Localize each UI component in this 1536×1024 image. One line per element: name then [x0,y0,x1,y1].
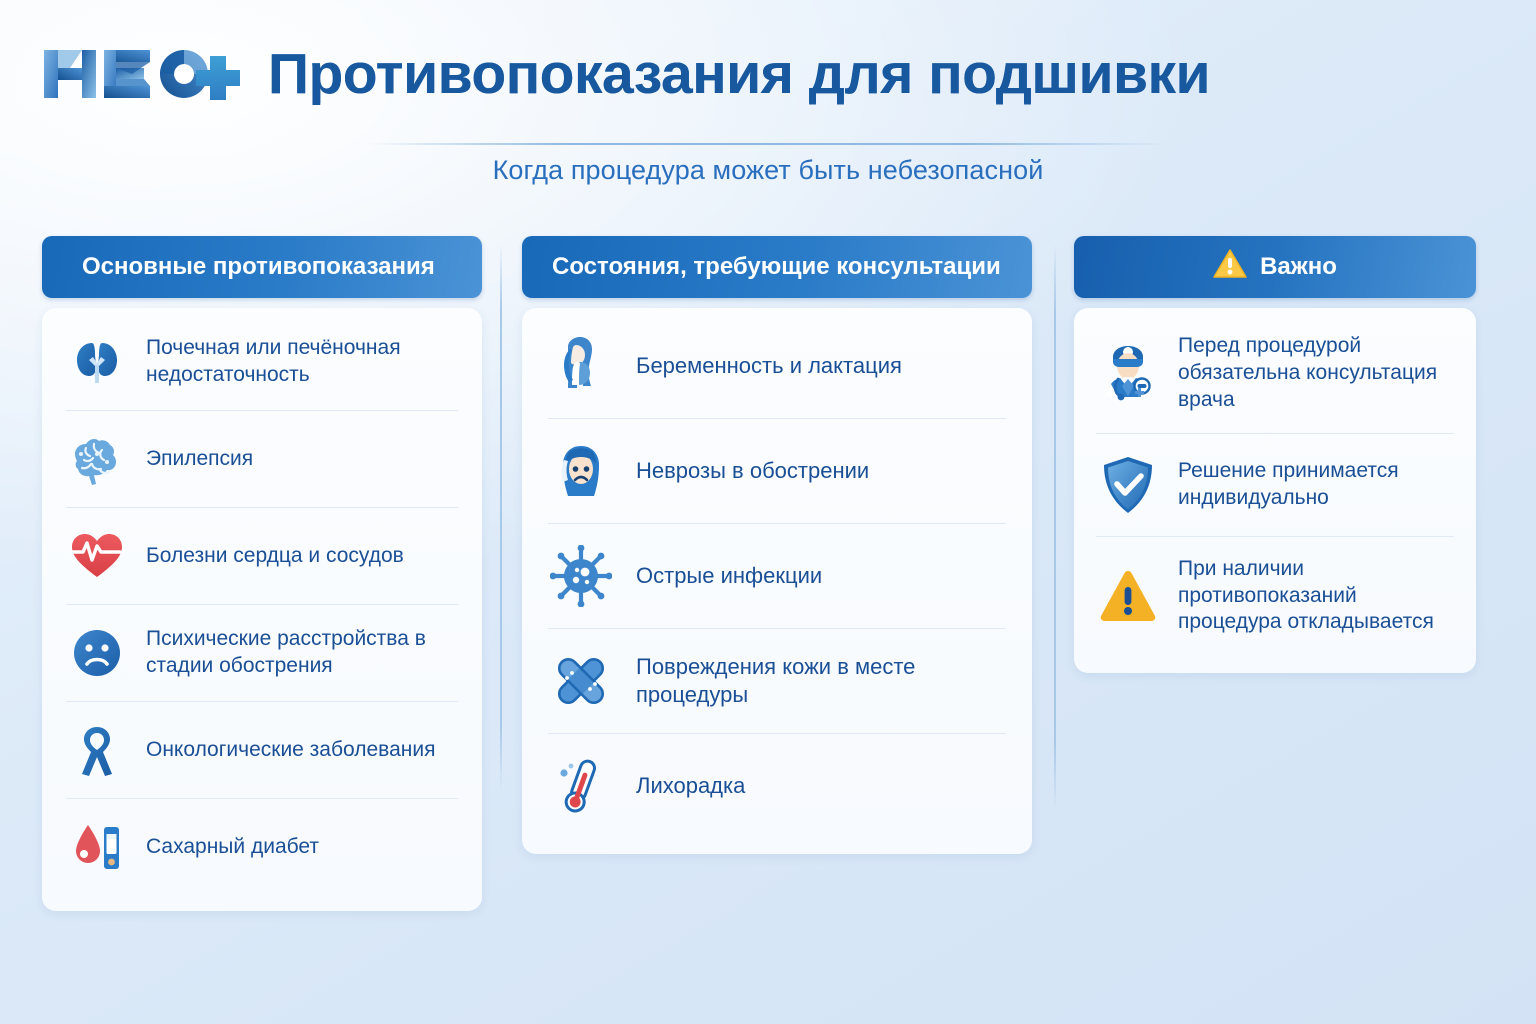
list-item-label: Психические расстройства в стадии обостр… [146,626,458,680]
list-item-label: Острые инфекции [636,562,822,590]
list-item[interactable]: Перед процедурой обязательна консультаци… [1096,314,1454,434]
title-divider [368,143,1168,145]
brain-icon [66,428,128,490]
page-header: Противопоказания для подшивки Когда проц… [0,0,1536,210]
page-subtitle: Когда процедура может быть небезопасной [0,155,1536,186]
list-item[interactable]: Острые инфекции [548,524,1006,629]
list-item-label: Почечная или печёночная недостаточность [146,335,458,389]
column-header-important: Важно [1074,236,1476,298]
column-header-label: Основные противопоказания [82,253,435,281]
list-item[interactable]: Неврозы в обострении [548,419,1006,524]
list-item-label: При наличии противопоказаний процедура о… [1178,556,1454,637]
blood-drop-glucometer-icon [66,816,128,878]
list-item[interactable]: Решение принимается индивидуально [1096,434,1454,537]
list-item[interactable]: Психические расстройства в стадии обостр… [66,605,458,702]
pregnant-woman-icon [548,333,614,399]
anxious-woman-icon [548,438,614,504]
list-item-label: Повреждения кожи в месте процедуры [636,653,1006,709]
column-body-important: Перед процедурой обязательна консультаци… [1074,308,1476,673]
thermometer-icon [548,753,614,819]
list-item-label: Онкологические заболевания [146,737,435,764]
list-item-label: Решение принимается индивидуально [1178,458,1454,512]
list-item-label: Эпилепсия [146,446,253,473]
column-conditions-requiring-consultation: Состояния, требующие консультации Береме… [522,236,1032,854]
list-item[interactable]: Сахарный диабет [66,799,458,895]
brand-row: Противопоказания для подшивки [40,42,1210,106]
list-item-label: Болезни сердца и сосудов [146,543,404,570]
column-header-main-contraindications: Основные противопоказания [42,236,482,298]
column-main-contraindications: Основные противопоказания Почечная или п… [42,236,482,911]
list-item-label: Неврозы в обострении [636,457,869,485]
awareness-ribbon-icon [66,719,128,781]
list-item-label: Сахарный диабет [146,834,319,861]
list-item[interactable]: Онкологические заболевания [66,702,458,799]
column-header-label: Состояния, требующие консультации [552,253,1001,281]
doctor-icon [1096,341,1160,405]
warning-triangle-icon [1096,564,1160,628]
warning-triangle-icon [1213,248,1247,286]
column-body-conditions: Беременность и лактация Неврозы в обостр… [522,308,1032,854]
column-header-label: Важно [1260,253,1337,281]
list-item[interactable]: Болезни сердца и сосудов [66,508,458,605]
content-columns: Основные противопоказания Почечная или п… [0,236,1536,936]
list-item[interactable]: Почечная или печёночная недостаточность [66,314,458,411]
kidneys-icon [66,331,128,393]
neo-plus-logo-icon [40,42,250,106]
column-body-main-contraindications: Почечная или печёночная недостаточность … [42,308,482,911]
list-item[interactable]: Беременность и лактация [548,314,1006,419]
list-item-label: Перед процедурой обязательна консультаци… [1178,333,1454,414]
column-header-conditions: Состояния, требующие консультации [522,236,1032,298]
heart-pulse-icon [66,525,128,587]
list-item[interactable]: При наличии противопоказаний процедура о… [1096,537,1454,656]
list-item-label: Беременность и лактация [636,352,902,380]
list-item[interactable]: Повреждения кожи в месте процедуры [548,629,1006,734]
bandage-icon [548,648,614,714]
page-title: Противопоказания для подшивки [268,46,1210,103]
virus-icon [548,543,614,609]
column-important: Важно [1074,236,1476,673]
list-item-label: Лихорадка [636,772,745,800]
list-item[interactable]: Лихорадка [548,734,1006,838]
column-divider-2 [1054,244,1056,810]
list-item[interactable]: Эпилепсия [66,411,458,508]
sad-face-icon [66,622,128,684]
shield-check-icon [1096,453,1160,517]
column-divider-1 [500,244,502,790]
